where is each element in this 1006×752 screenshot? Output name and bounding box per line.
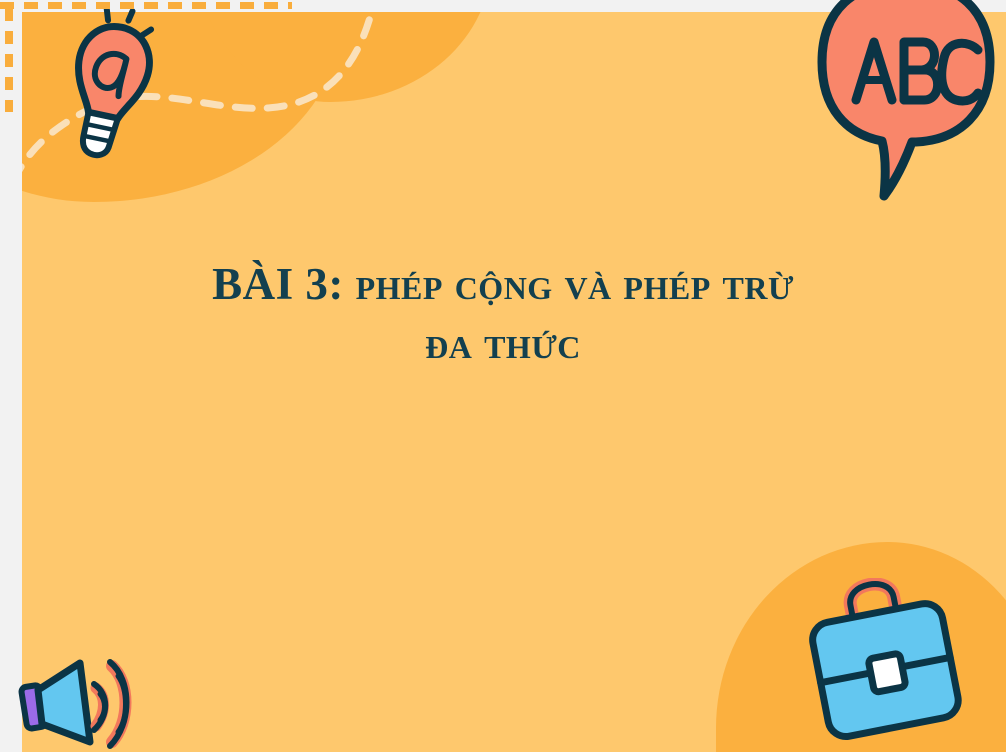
title-prefix: BÀI 3: xyxy=(212,259,356,309)
speech-bubble-abc-icon xyxy=(808,0,1006,210)
title-line-2: ĐA THỨC xyxy=(0,317,1006,370)
dashed-border-left xyxy=(5,8,13,112)
speaker-volume-icon xyxy=(8,650,133,752)
briefcase-icon xyxy=(806,578,966,752)
dashed-border-top xyxy=(0,2,292,9)
lightbulb-icon xyxy=(54,8,164,168)
title-second-line: ĐA THỨC xyxy=(425,318,581,368)
title-main: PHÉP CỘNG VÀ PHÉP TRỪ xyxy=(356,259,794,309)
slide-title: BÀI 3: PHÉP CỘNG VÀ PHÉP TRỪ ĐA THỨC xyxy=(0,258,1006,370)
title-line-1: BÀI 3: PHÉP CỘNG VÀ PHÉP TRỪ xyxy=(0,258,1006,311)
slide-canvas: BÀI 3: PHÉP CỘNG VÀ PHÉP TRỪ ĐA THỨC xyxy=(0,0,1006,752)
